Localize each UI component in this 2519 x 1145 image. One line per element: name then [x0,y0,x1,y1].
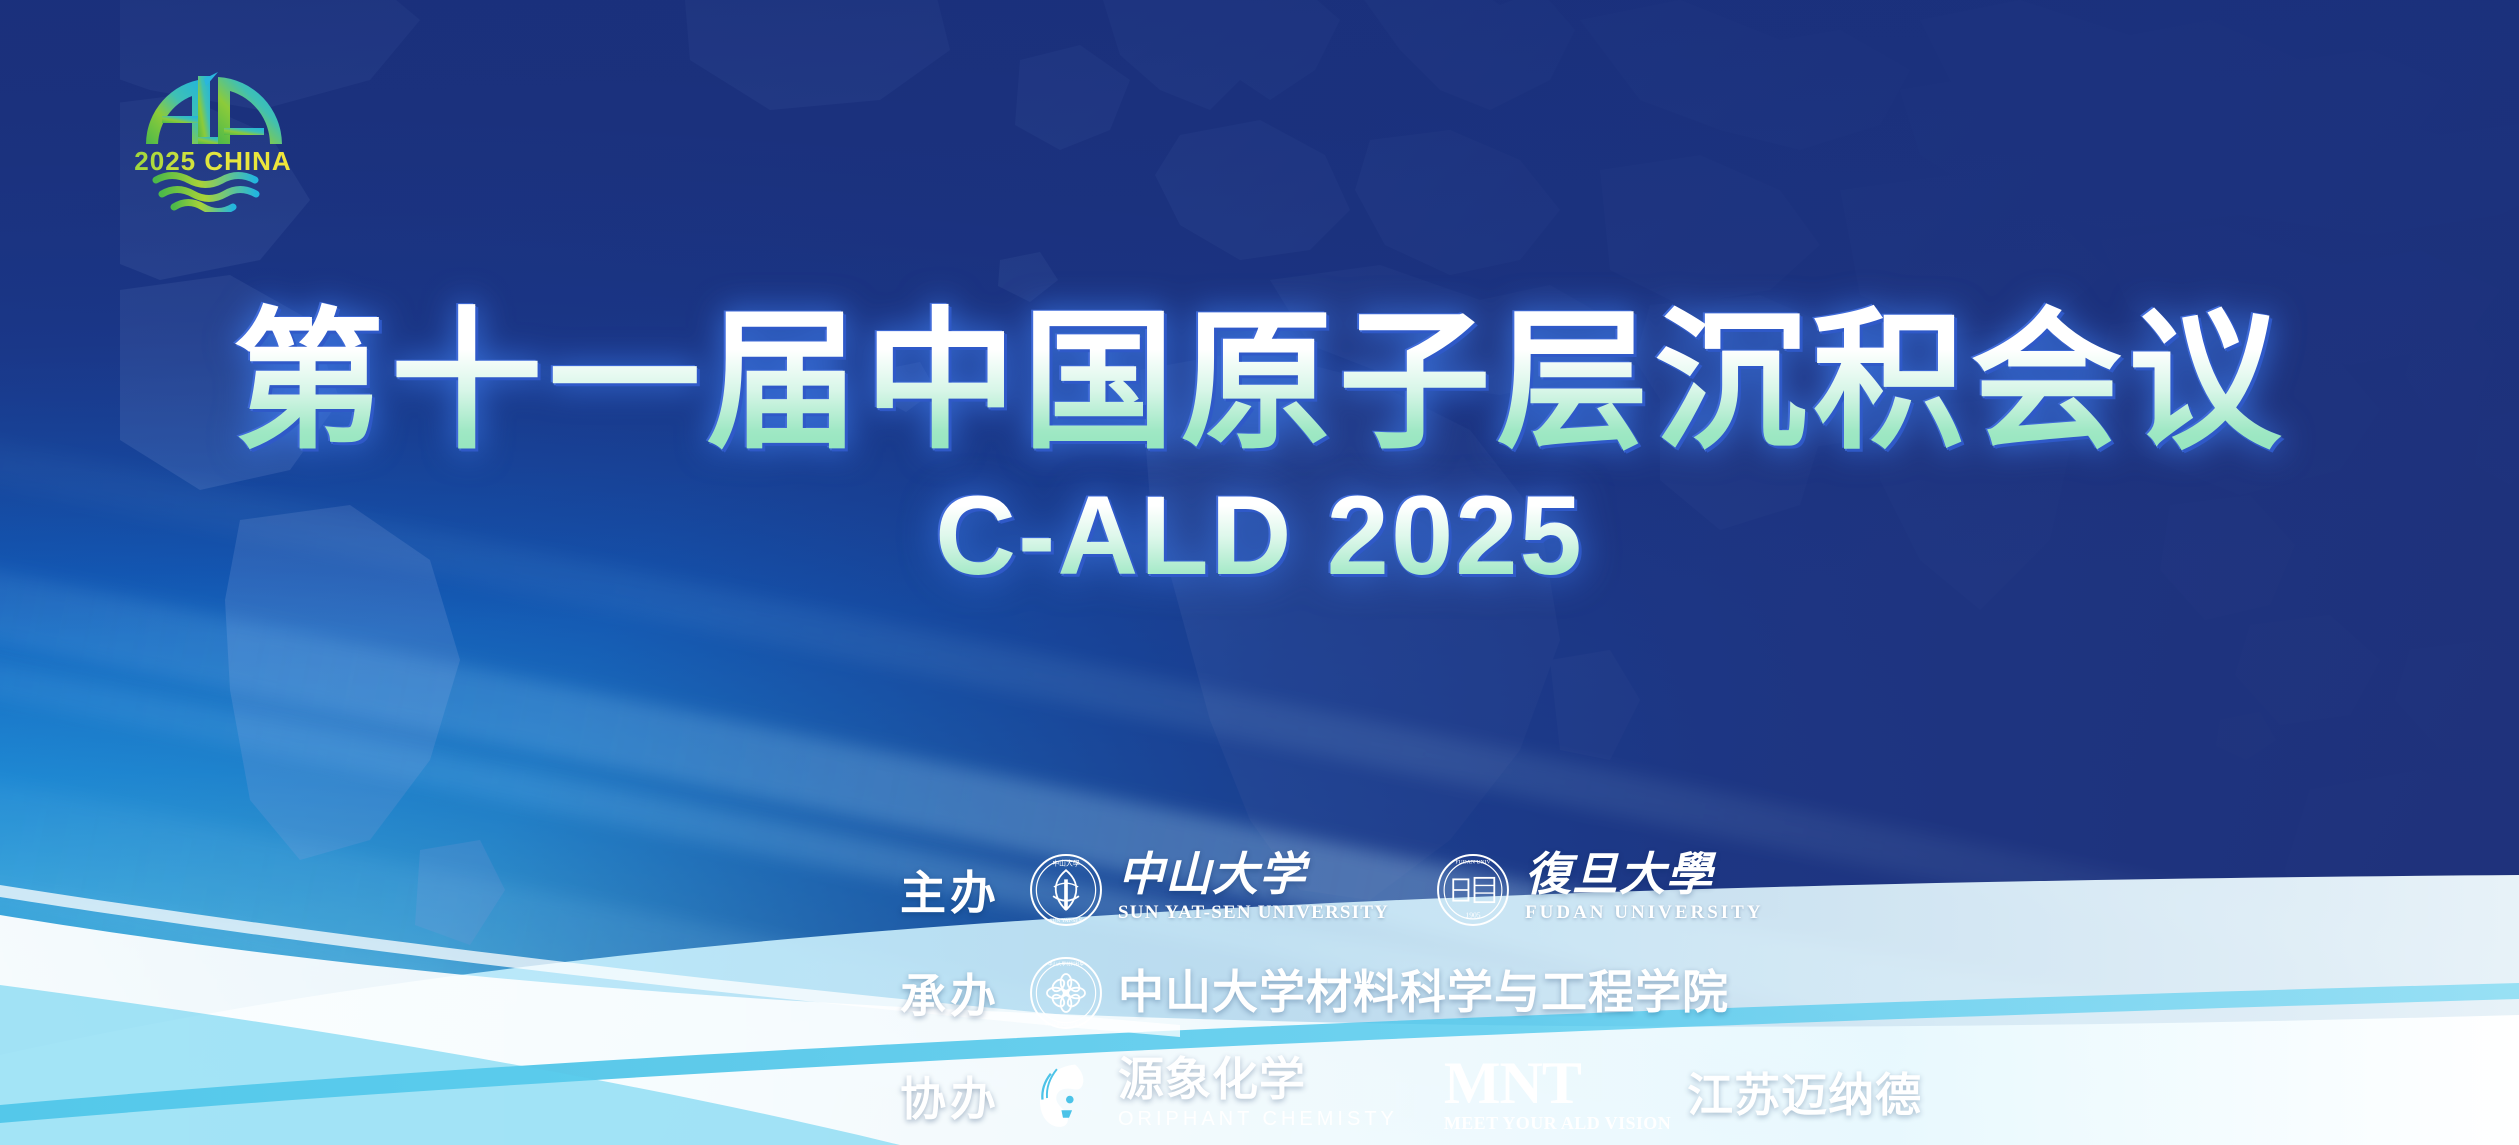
mnt-wordmark-icon: MNT MEET YOUR ALD VISION [1444,1056,1671,1135]
conference-banner: 2025 CHINA 第十一届中国原子层沉积会议 C-ALD 2025 主办 [0,0,2519,1145]
sponsor-name-cn: 中山大学材料科学与工程学院 [1118,969,1729,1016]
sponsor-label-coorganizer: 协办 [900,1063,1028,1129]
svg-text:FUDAN UNIV: FUDAN UNIV [1455,859,1491,865]
sponsor-name-en: FUDAN UNIVERSITY [1525,899,1764,928]
sponsor-row-host: 主办 中山大學 SUN YAT-SEN [900,838,2300,941]
sponsor-fudan: FUDAN UNIV 1905 復旦大學 FUDAN UNIVERSITY [1435,852,1764,928]
svg-text:MATERIALS SCIENCE: MATERIALS SCIENCE [1045,1021,1087,1026]
svg-text:1905: 1905 [1465,910,1480,919]
mnt-letters: MNT [1444,1056,1671,1111]
sponsor-name-cn: 源象化学 [1118,1056,1398,1103]
mnt-tagline: MEET YOUR ALD VISION [1444,1111,1671,1135]
sponsor-oriphant: 源象化学 ORIPHANT CHEMISTY [1028,1056,1398,1135]
sponsor-sysu-materials: 中山大學材料科學 MATERIALS SCIENCE 中山大学材料科学与工程学院 [1028,955,1729,1031]
ald-2025-china-logo: 2025 CHINA [132,52,292,212]
svg-text:中山大學材料科學: 中山大學材料科學 [1048,960,1085,967]
headline-block: 第十一届中国原子层沉积会议 C-ALD 2025 [0,300,2519,597]
page-subtitle: C-ALD 2025 [0,474,2519,597]
sponsor-row-coorganizer: 协办 源象化学 ORIPHANT CHEMISTY [900,1044,2300,1145]
sponsor-section: 主办 中山大學 SUN YAT-SEN [900,838,2300,1145]
sponsor-label-organizer: 承办 [900,960,1028,1026]
svg-text:SUN YAT-SEN: SUN YAT-SEN [1050,917,1083,923]
sponsor-name-cn: 復旦大學 [1525,852,1764,899]
sponsor-name-en: SUN YAT-SEN UNIVERSITY [1118,899,1389,928]
sponsor-name-cn: 江苏迈纳德 [1687,1072,1922,1119]
page-title: 第十一届中国原子层沉积会议 [0,300,2519,464]
sysu-materials-school-seal-icon: 中山大學材料科學 MATERIALS SCIENCE [1028,955,1104,1031]
sponsor-row-organizer: 承办 [900,941,2300,1044]
sun-yat-sen-university-seal-icon: 中山大學 SUN YAT-SEN [1028,852,1104,928]
sponsor-mnt: MNT MEET YOUR ALD VISION 江苏迈纳德 [1444,1056,1922,1135]
sponsor-sysu: 中山大學 SUN YAT-SEN 中山大学 SUN YAT-SEN UNIVER… [1028,852,1389,928]
fudan-university-seal-icon: FUDAN UNIV 1905 [1435,852,1511,928]
svg-text:2025 CHINA: 2025 CHINA [134,146,291,176]
oriphant-chemistry-mark-icon [1028,1057,1104,1133]
sponsor-name-en: ORIPHANT CHEMISTY [1118,1103,1398,1135]
sponsor-label-host: 主办 [900,857,1028,923]
sponsor-name-cn: 中山大学 [1118,852,1389,899]
svg-text:中山大學: 中山大學 [1052,858,1079,867]
